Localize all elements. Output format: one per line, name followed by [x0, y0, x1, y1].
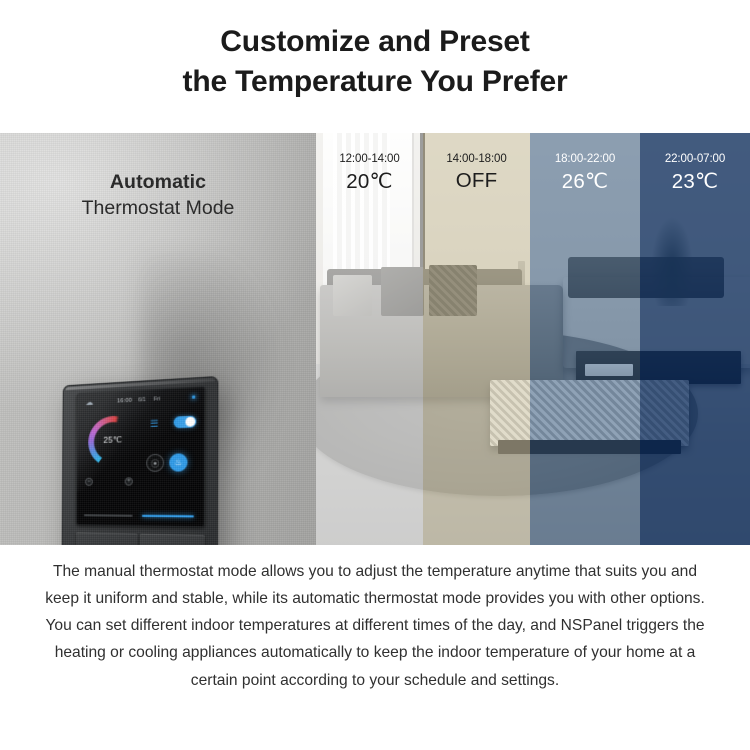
schedule-range-3: 18:00-22:00 [530, 153, 640, 165]
power-toggle[interactable] [174, 416, 197, 429]
heater-icon[interactable]: ☰ [148, 418, 160, 429]
schedule-slot-1: 12:00-14:00 20℃ [316, 133, 423, 194]
physical-button-left[interactable] [76, 532, 138, 545]
tint-column-4 [640, 133, 750, 545]
tint-column-3 [530, 133, 640, 545]
schedule-temperature-1: 20℃ [316, 169, 423, 194]
tint-column-1 [316, 133, 423, 545]
nspanel-device: ☁ 16:00 6/1 Fri 25℃ − + ☰ [61, 376, 218, 545]
toggle-knob [186, 417, 195, 426]
mode-title-regular: Thermostat Mode [0, 197, 316, 220]
fan-icon-button[interactable]: ⦿ [146, 454, 164, 472]
increase-temperature-button[interactable]: + [125, 477, 133, 485]
schedule-slot-2: 14:00-18:00 OFF [423, 133, 530, 194]
wall-background: Automatic Thermostat Mode ☁ 16:00 6/1 Fr… [0, 133, 316, 545]
page-title: Customize and Preset the Temperature You… [0, 22, 750, 101]
schedule-range-4: 22:00-07:00 [640, 153, 750, 165]
thermostat-dial-group: 25℃ − + [84, 413, 142, 498]
device-physical-buttons [76, 532, 205, 545]
schedule-slot-4: 22:00-07:00 23℃ [640, 133, 750, 194]
tint-column-2 [423, 133, 530, 545]
device-screen[interactable]: ☁ 16:00 6/1 Fri 25℃ − + ☰ [76, 386, 205, 527]
connection-status-dot-icon [192, 395, 195, 398]
status-time: 16:00 [117, 397, 132, 404]
schedule-slot-3: 18:00-22:00 26℃ [530, 133, 640, 194]
marketing-page: Customize and Preset the Temperature You… [0, 0, 750, 750]
page-indicator-2[interactable] [142, 515, 194, 517]
screen-status-bar: ☁ 16:00 6/1 Fri [77, 392, 205, 410]
schedule-labels: 12:00-14:00 20℃ 14:00-18:00 OFF 18:00-22… [316, 133, 750, 194]
mode-title-strong: Automatic [0, 171, 316, 194]
schedule-temperature-3: 26℃ [530, 169, 640, 194]
hero-band: Automatic Thermostat Mode ☁ 16:00 6/1 Fr… [0, 133, 750, 545]
headline-line-1: Customize and Preset [220, 25, 529, 58]
status-weekday: Fri [154, 396, 160, 403]
page-indicator-1[interactable] [84, 515, 133, 517]
mode-title: Automatic Thermostat Mode [0, 171, 316, 220]
tint-overlay-columns [316, 133, 750, 545]
cloud-icon: ☁ [86, 399, 94, 407]
decrease-temperature-button[interactable]: − [85, 478, 93, 486]
thermometer-icon-button[interactable]: ♨ [169, 453, 187, 471]
schedule-temperature-4: 23℃ [640, 169, 750, 194]
living-room-photo: 12:00-14:00 20℃ 14:00-18:00 OFF 18:00-22… [316, 133, 750, 545]
current-temperature-value: 25℃ [84, 433, 142, 445]
headline-line-2: the Temperature You Prefer [0, 62, 750, 102]
description-paragraph: The manual thermostat mode allows you to… [40, 558, 710, 694]
schedule-temperature-2: OFF [423, 169, 530, 193]
schedule-range-1: 12:00-14:00 [316, 153, 423, 165]
status-date: 6/1 [138, 396, 145, 403]
schedule-range-2: 14:00-18:00 [423, 153, 530, 165]
physical-button-right[interactable] [139, 534, 205, 545]
